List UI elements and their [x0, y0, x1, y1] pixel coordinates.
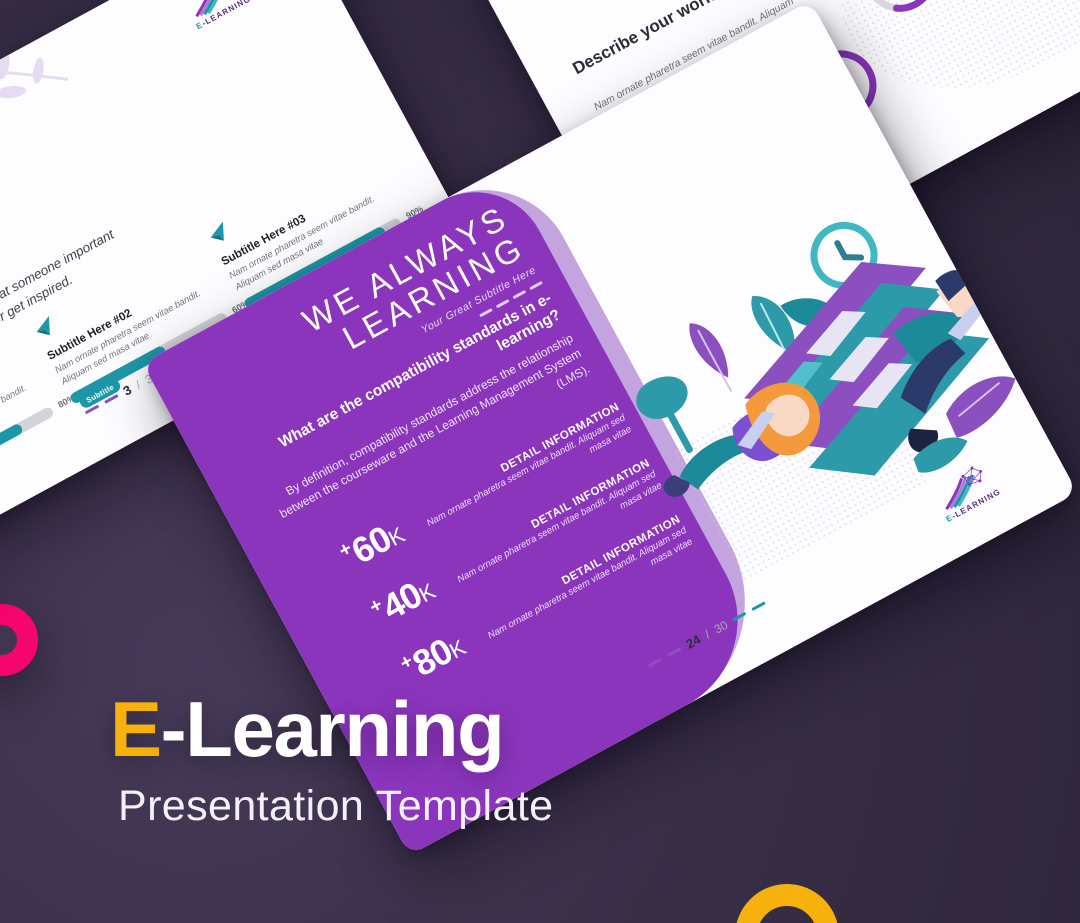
list-item[interactable]: Subtitle Here #01 Nam ornate pharetra se… — [0, 334, 55, 500]
page-separator: / — [133, 378, 143, 392]
brand-logo: E-LEARNING — [930, 460, 1003, 524]
pink-ring-decoration — [0, 604, 38, 676]
brand-logo: PRESENTATION TEMPLATE — [178, 0, 252, 31]
paper-plane-icon — [204, 218, 234, 248]
title-accent-letter: E — [110, 685, 161, 773]
title-rest: -Learning — [161, 685, 504, 773]
page-separator: / — [702, 627, 712, 641]
hero-title-block: E-Learning Presentation Template — [110, 690, 750, 831]
page-title: E-Learning — [110, 690, 750, 768]
paper-plane-icon — [30, 313, 60, 343]
yellow-ring-decoration — [735, 884, 839, 923]
progress-bar: Subtitle 80% — [0, 406, 55, 500]
page-current: 3 — [121, 382, 135, 399]
presentation-mockup-canvas: EONE FAMOUS quote. Words full of wisdom … — [0, 0, 1080, 923]
page-subtitle: Presentation Template — [110, 782, 750, 831]
